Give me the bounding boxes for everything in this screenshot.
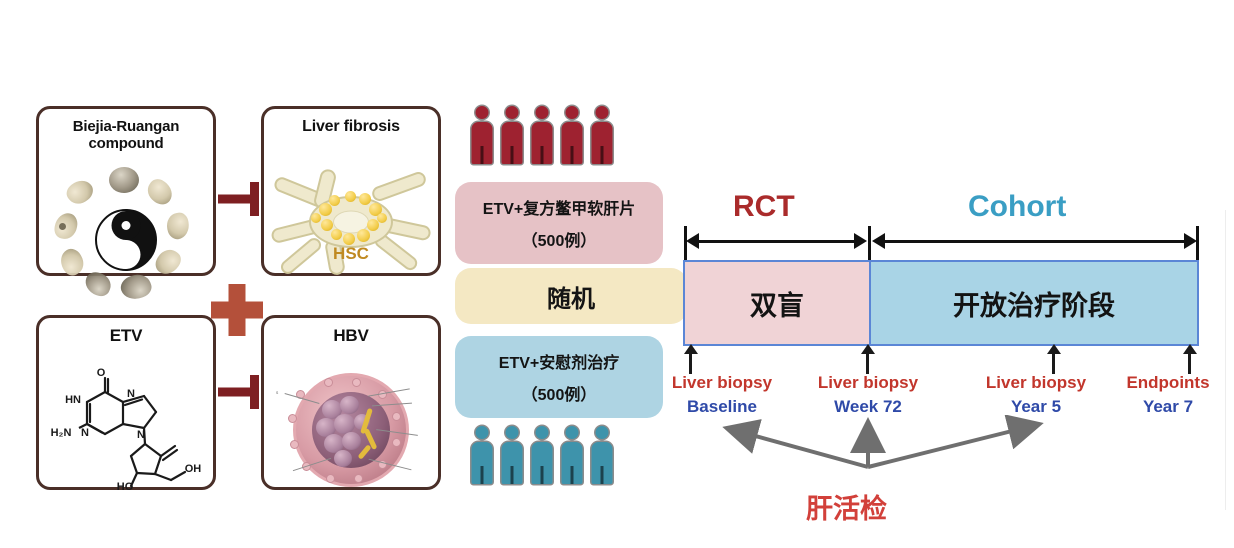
milestone-label-baseline: Liver biopsy Baseline bbox=[660, 373, 784, 417]
person-leg-gap bbox=[601, 466, 604, 484]
milestone-label-year5: Liver biopsy Year 5 bbox=[974, 373, 1098, 417]
span-arrow-rct-head-right bbox=[854, 233, 867, 249]
person-icon bbox=[591, 426, 613, 484]
milestone-year5-bottom: Year 5 bbox=[974, 397, 1098, 417]
arm-box-placebo: ETV+安慰剂治疗 （500例） bbox=[455, 336, 663, 418]
span-tick-mid bbox=[868, 226, 871, 260]
panel-biejia-title-line1: Biejia-Ruangan bbox=[73, 118, 179, 135]
milestone-year7-bottom: Year 7 bbox=[1106, 397, 1230, 417]
milestone-week72-bottom: Week 72 bbox=[806, 397, 930, 417]
person-head-icon bbox=[566, 426, 579, 439]
person-head-icon bbox=[476, 426, 489, 439]
panel-liver-fibrosis: Liver fibrosis HSC bbox=[261, 106, 441, 276]
phase-bar-double-blind-label: 双盲 bbox=[750, 284, 804, 323]
inhibition-connector-bottom bbox=[218, 375, 259, 409]
combine-plus-icon bbox=[211, 284, 263, 336]
panel-liver-fibrosis-title-text: Liver fibrosis bbox=[302, 118, 400, 135]
person-icon bbox=[531, 106, 553, 164]
phase-bar-open-label-text: 开放治疗阶段 bbox=[953, 284, 1115, 323]
person-icon bbox=[501, 426, 523, 484]
arm-treatment-line2: （500例） bbox=[522, 227, 597, 251]
phase-bar-double-blind: 双盲 bbox=[683, 260, 871, 346]
arm-box-treatment: ETV+复方鳖甲软肝片 （500例） bbox=[455, 182, 663, 264]
person-head-icon bbox=[596, 426, 609, 439]
svg-text:HN: HN bbox=[65, 394, 81, 406]
span-arrow-cohort-head-right bbox=[1184, 233, 1197, 249]
person-head-icon bbox=[596, 106, 609, 119]
person-head-icon bbox=[506, 106, 519, 119]
person-leg-gap bbox=[511, 146, 514, 164]
scan-edge-artifact bbox=[1225, 210, 1226, 510]
person-icon bbox=[561, 106, 583, 164]
person-icon bbox=[471, 106, 493, 164]
person-icon bbox=[501, 106, 523, 164]
span-arrow-cohort-line bbox=[884, 240, 1188, 243]
phase-label-cohort: Cohort bbox=[968, 190, 1066, 224]
person-head-icon bbox=[506, 426, 519, 439]
person-leg-gap bbox=[601, 146, 604, 164]
panel-etv: ETV bbox=[36, 315, 216, 490]
person-leg-gap bbox=[481, 146, 484, 164]
milestone-arrow-week72 bbox=[866, 352, 869, 374]
hepatitis-b-virion-icon: S bbox=[276, 370, 426, 490]
svg-text:N: N bbox=[127, 388, 135, 400]
biopsy-note-label: 肝活检 bbox=[806, 487, 887, 526]
panel-biejia-ruangan: Biejia-Ruangan compound bbox=[36, 106, 216, 276]
milestone-arrow-year5 bbox=[1052, 352, 1055, 374]
milestone-week72-top: Liver biopsy bbox=[806, 373, 930, 393]
panel-liver-fibrosis-title: Liver fibrosis bbox=[264, 118, 438, 136]
milestone-baseline-top: Liver biopsy bbox=[660, 373, 784, 393]
person-head-icon bbox=[566, 106, 579, 119]
person-leg-gap bbox=[541, 466, 544, 484]
arm-placebo-line1: ETV+安慰剂治疗 bbox=[499, 349, 619, 373]
panel-hbv-title: HBV bbox=[264, 326, 438, 346]
person-leg-gap bbox=[571, 146, 574, 164]
person-icon bbox=[561, 426, 583, 484]
inhibition-connector-top bbox=[218, 182, 259, 216]
milestone-label-year7: Endpoints Year 7 bbox=[1106, 373, 1230, 417]
panel-etv-title: ETV bbox=[39, 326, 213, 346]
milestone-label-week72: Liver biopsy Week 72 bbox=[806, 373, 930, 417]
person-icon bbox=[591, 106, 613, 164]
person-leg-gap bbox=[481, 466, 484, 484]
svg-text:OH: OH bbox=[185, 463, 202, 475]
person-head-icon bbox=[536, 426, 549, 439]
panel-liver-fibrosis-subtitle: HSC bbox=[264, 244, 438, 264]
milestone-arrow-baseline bbox=[689, 352, 692, 374]
span-arrow-cohort-head-left bbox=[872, 233, 885, 249]
milestone-year7-top: Endpoints bbox=[1106, 373, 1230, 393]
biopsy-fan-arrows bbox=[700, 415, 1060, 475]
milestone-year5-top: Liver biopsy bbox=[974, 373, 1098, 393]
person-icon bbox=[531, 426, 553, 484]
figure-canvas: Biejia-Ruangan compound Liver fibrosis bbox=[0, 0, 1234, 548]
span-arrow-rct-head-left bbox=[686, 233, 699, 249]
svg-text:H₂N: H₂N bbox=[51, 427, 72, 439]
randomization-label: 随机 bbox=[547, 279, 595, 314]
arm-placebo-line2: （500例） bbox=[522, 381, 597, 405]
panel-biejia-title: Biejia-Ruangan compound bbox=[39, 118, 213, 152]
people-row-treatment bbox=[471, 106, 613, 164]
person-icon bbox=[471, 426, 493, 484]
person-head-icon bbox=[536, 106, 549, 119]
person-leg-gap bbox=[541, 146, 544, 164]
svg-text:O: O bbox=[97, 367, 106, 379]
person-head-icon bbox=[476, 106, 489, 119]
panel-hbv: HBV S bbox=[261, 315, 441, 490]
svg-text:N: N bbox=[81, 427, 89, 439]
entecavir-structure-icon: O HN N N N H₂N HO OH bbox=[41, 366, 211, 496]
person-leg-gap bbox=[511, 466, 514, 484]
people-row-placebo bbox=[471, 426, 613, 484]
milestone-arrow-year7 bbox=[1188, 352, 1191, 374]
phase-label-rct: RCT bbox=[733, 190, 795, 224]
milestone-baseline-bottom: Baseline bbox=[660, 397, 784, 417]
span-arrow-rct-line bbox=[696, 240, 856, 243]
yin-yang-symbol-icon bbox=[95, 209, 157, 271]
arm-treatment-line1: ETV+复方鳖甲软肝片 bbox=[483, 195, 635, 219]
yin-yang-herbs-icon bbox=[51, 165, 201, 315]
panel-biejia-title-line2: compound bbox=[88, 135, 163, 152]
svg-text:HO: HO bbox=[117, 481, 134, 493]
randomization-box: 随机 bbox=[455, 268, 687, 324]
person-leg-gap bbox=[571, 466, 574, 484]
svg-text:N: N bbox=[137, 429, 145, 441]
phase-bar-open-label: 开放治疗阶段 bbox=[869, 260, 1199, 346]
